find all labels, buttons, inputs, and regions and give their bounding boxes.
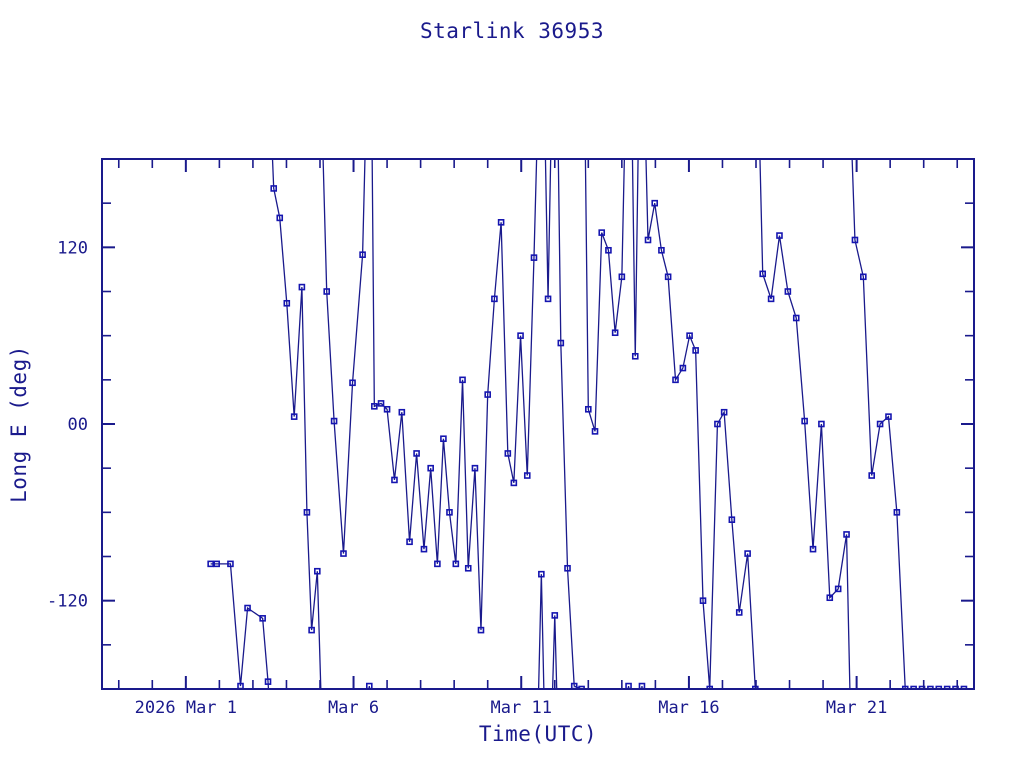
data-line-segment [271, 119, 322, 729]
data-line-segment [551, 615, 557, 729]
data-line-segment [322, 119, 366, 554]
data-line-segment [558, 119, 585, 729]
data-line-segment [639, 686, 645, 729]
data-line-segment [851, 119, 964, 689]
x-tick-label: Mar 21 [826, 698, 887, 718]
x-tick-label: Mar 11 [491, 698, 552, 718]
x-tick-label: 2026 Mar 1 [135, 698, 237, 718]
data-line-segment [625, 686, 632, 729]
y-tick-label: 120 [57, 238, 88, 258]
data-line-segment [372, 119, 538, 630]
page-title: Starlink 36953 [420, 19, 604, 43]
data-line-segment [545, 119, 552, 299]
data-series-layer [208, 119, 966, 729]
axes-frame [102, 159, 974, 689]
x-axis-tick-labels: 2026 Mar 1Mar 6Mar 11Mar 16Mar 21 [135, 698, 888, 718]
x-tick-label: Mar 16 [658, 698, 719, 718]
y-tick-label: 00 [68, 415, 88, 435]
plot-frame [102, 159, 974, 689]
longitude-vs-time-plot: Starlink 36953 12000-120 2026 Mar 1Mar 6… [0, 0, 1024, 768]
data-line-segment [632, 119, 639, 356]
y-axis-tick-labels: 12000-120 [47, 238, 88, 611]
data-line-segment [645, 119, 759, 729]
y-tick-label: -120 [47, 592, 88, 612]
y-axis-ticks [102, 203, 974, 645]
chart-canvas: Starlink 36953 12000-120 2026 Mar 1Mar 6… [0, 0, 1024, 768]
y-axis-title: Long E (deg) [7, 345, 31, 503]
x-tick-label: Mar 6 [328, 698, 379, 718]
x-axis-title: Time(UTC) [479, 722, 597, 746]
